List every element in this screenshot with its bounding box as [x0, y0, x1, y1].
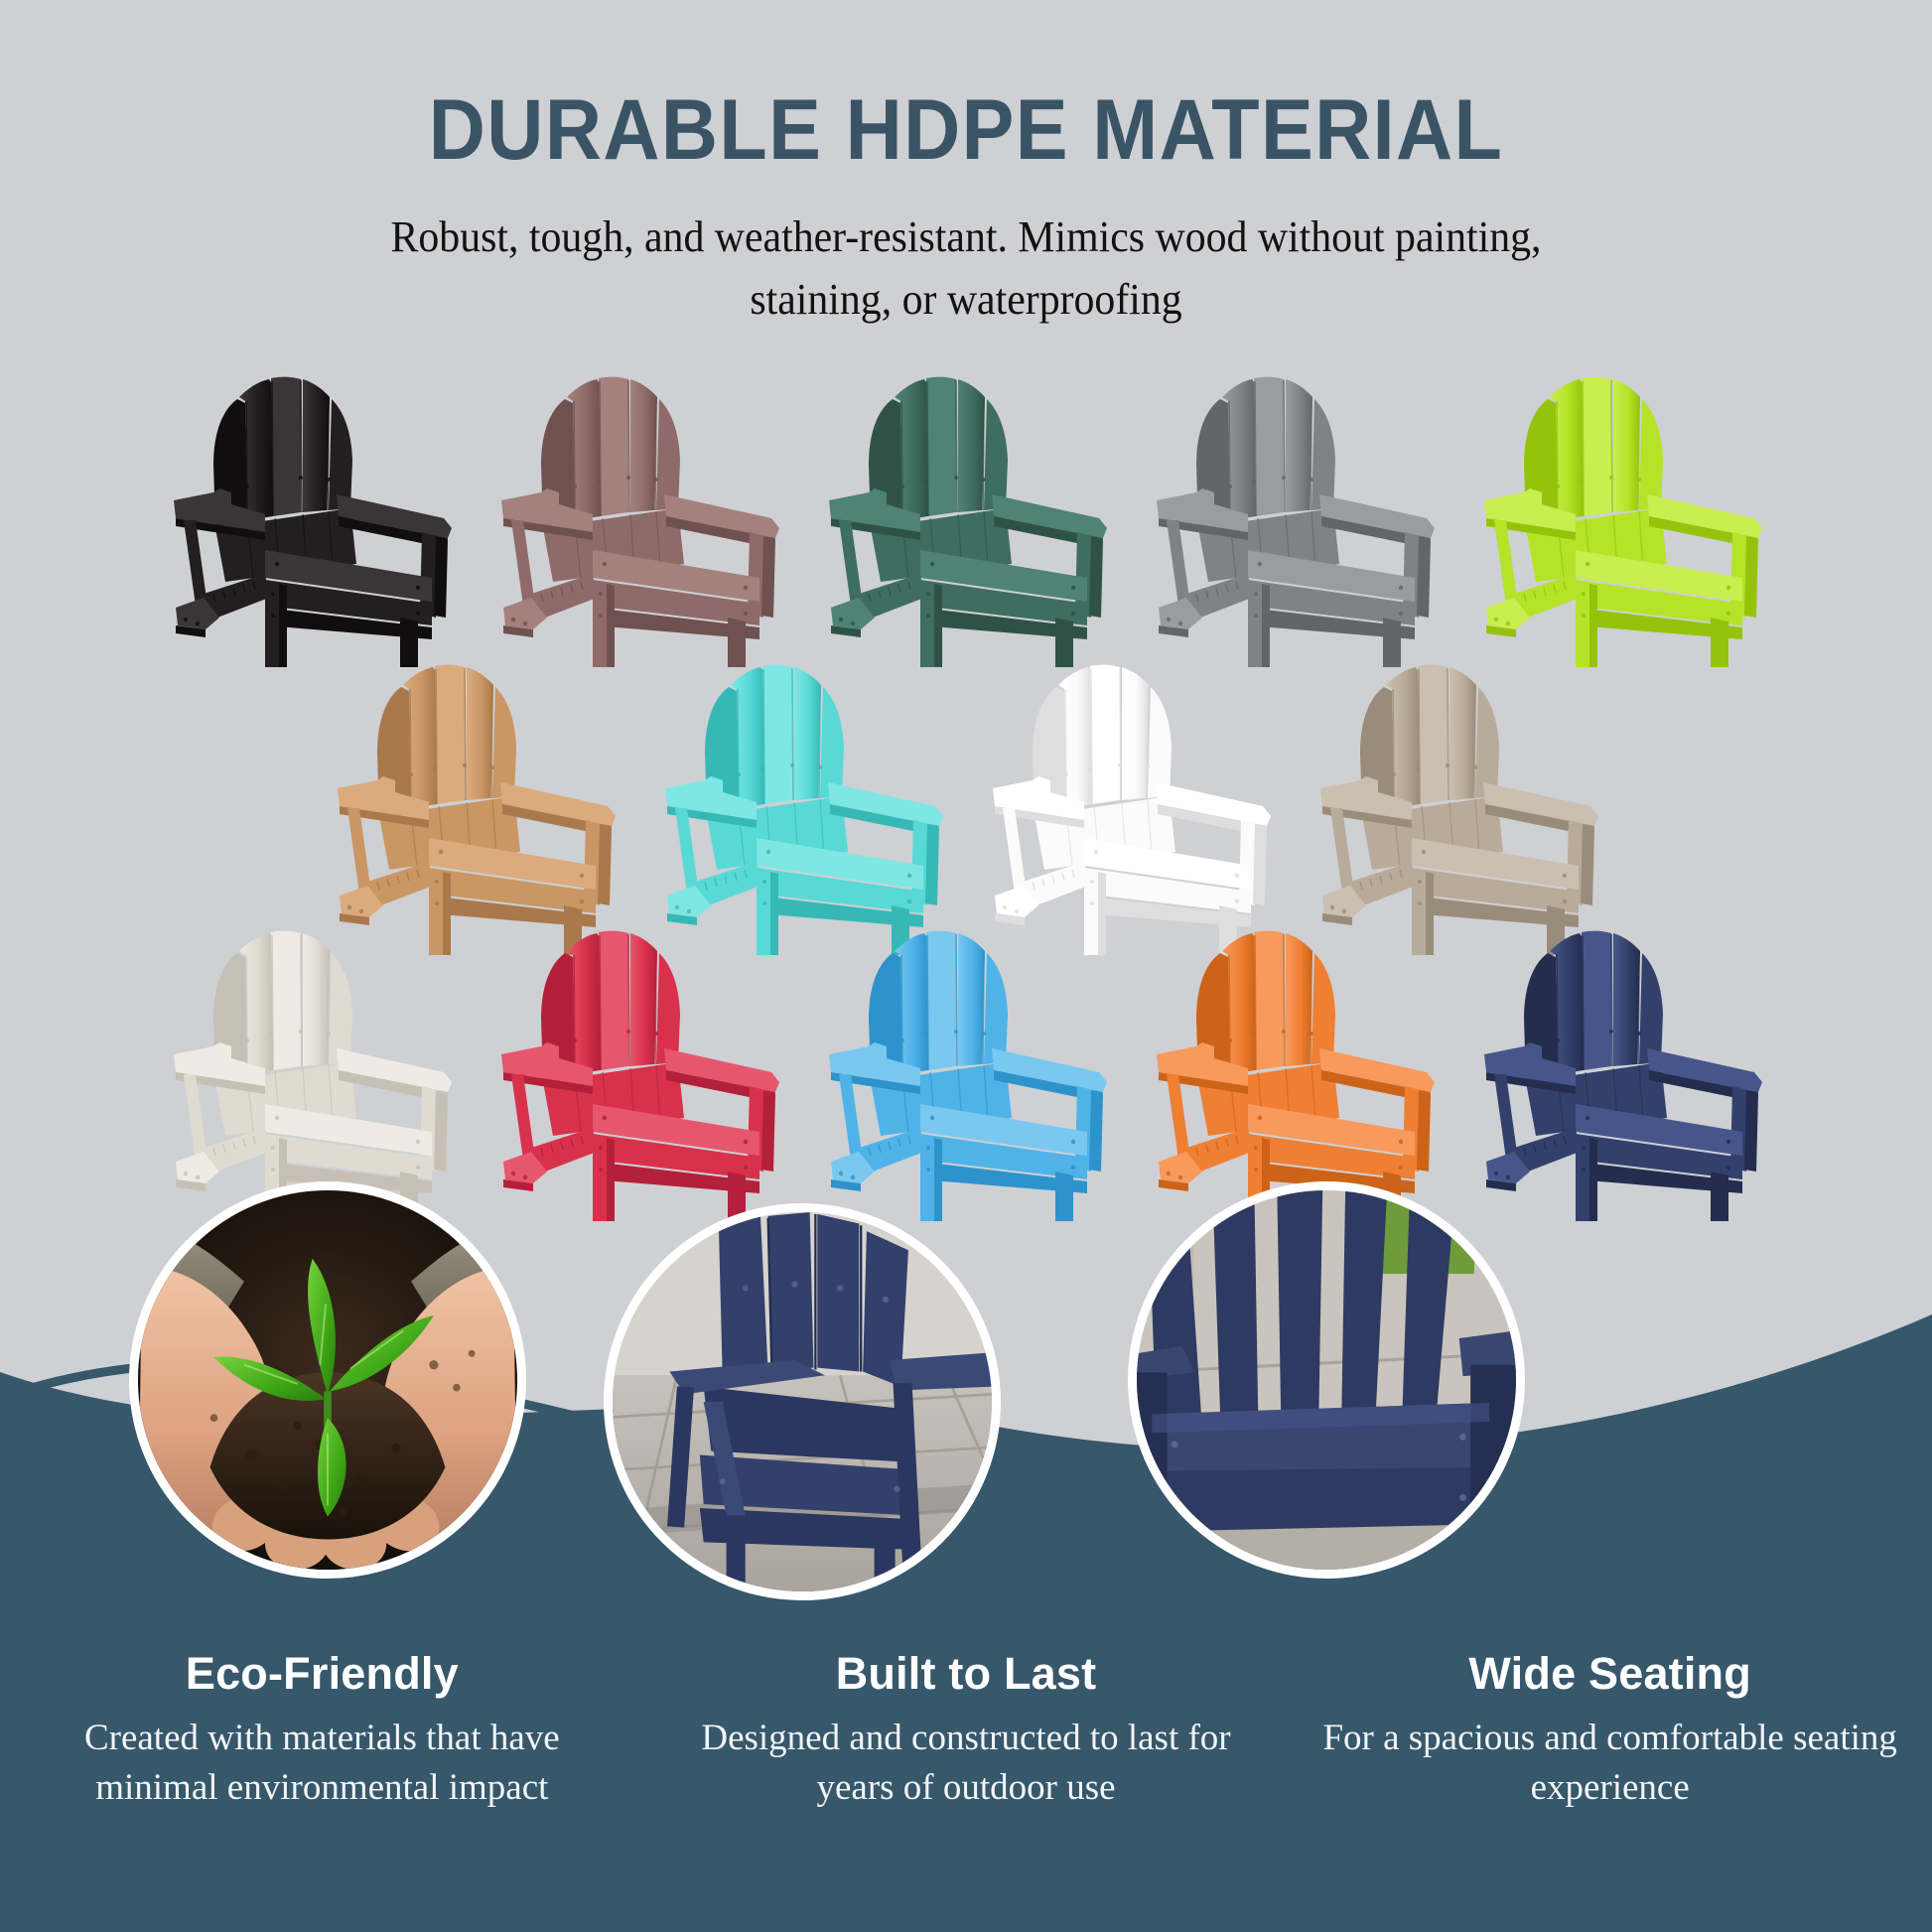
eco-friendly-photo — [129, 1181, 526, 1579]
chair-swatch-black[interactable] — [147, 369, 475, 667]
page-title: DURABLE HDPE MATERIAL — [77, 85, 1855, 175]
chair-left-arm-support — [1330, 808, 1354, 894]
adirondack-chair-svg — [162, 923, 460, 1221]
chair-side-rail — [340, 862, 433, 925]
chair-left-arm-support — [675, 808, 699, 894]
chair-left-arm-support — [184, 520, 207, 606]
navy-adirondack-chair-patio-photo — [613, 1212, 992, 1591]
chair-side-rail — [176, 1128, 269, 1191]
wide-seating-photo — [1128, 1181, 1525, 1579]
chair-side-rail — [1322, 862, 1416, 925]
chair-side-rail — [995, 862, 1088, 925]
chair-side-rail — [503, 574, 597, 637]
chair-swatch-light-blue[interactable] — [802, 923, 1130, 1221]
chair-side-rail — [831, 1128, 924, 1191]
chair-left-arm-support — [839, 520, 863, 606]
adirondack-chair-svg — [326, 657, 623, 955]
chair-side-rail — [1486, 574, 1580, 637]
page-subtitle: Robust, tough, and weather-resistant. Mi… — [339, 207, 1593, 331]
chair-side-rail — [176, 574, 269, 637]
adirondack-chair-svg — [817, 923, 1115, 1221]
chair-row-1 — [147, 369, 1785, 667]
chair-swatch-taupe[interactable] — [1294, 657, 1621, 955]
navy-chair-wide-seat-closeup-photo — [1137, 1190, 1516, 1570]
feature-list: Eco-Friendly Created with materials that… — [0, 1648, 1932, 1813]
chair-side-rail — [503, 1128, 597, 1191]
chair-side-rail — [1159, 1128, 1252, 1191]
feature-wide-seating: Wide Seating For a spacious and comforta… — [1288, 1648, 1932, 1813]
feature-description: Created with materials that have minimal… — [28, 1714, 617, 1813]
hands-holding-seedling-photo — [138, 1190, 517, 1570]
adirondack-chair-svg — [653, 657, 951, 955]
chair-left-arm-support — [1494, 1074, 1518, 1160]
feature-title: Eco-Friendly — [28, 1648, 617, 1700]
feature-title: Built to Last — [672, 1648, 1261, 1700]
chair-left-arm-support — [184, 1074, 207, 1160]
adirondack-chair-svg — [162, 369, 460, 667]
chair-left-arm-support — [347, 808, 371, 894]
chair-left-arm-support — [1494, 520, 1518, 606]
chair-left-arm-support — [839, 1074, 863, 1160]
infographic-canvas: DURABLE HDPE MATERIAL Robust, tough, and… — [0, 0, 1932, 1932]
chair-swatch-navy-blue[interactable] — [1457, 923, 1785, 1221]
adirondack-chair-svg — [1145, 923, 1443, 1221]
chair-left-arm-support — [1167, 520, 1190, 606]
feature-description: For a spacious and comfortable seating e… — [1315, 1714, 1904, 1813]
chair-side-rail — [667, 862, 760, 925]
feature-eco-friendly: Eco-Friendly Created with materials that… — [0, 1648, 644, 1813]
chair-swatch-teak[interactable] — [311, 657, 638, 955]
chair-swatch-dark-green[interactable] — [802, 369, 1130, 667]
chair-swatch-lime-green[interactable] — [1457, 369, 1785, 667]
chair-row-2 — [274, 657, 1658, 955]
header: DURABLE HDPE MATERIAL Robust, tough, and… — [0, 85, 1932, 331]
adirondack-chair-svg — [489, 923, 787, 1221]
chair-rear-leg — [1055, 1172, 1073, 1221]
adirondack-chair-svg — [981, 657, 1279, 955]
chair-side-rail — [831, 574, 924, 637]
chair-left-arm-support — [511, 1074, 535, 1160]
adirondack-chair-svg — [1309, 657, 1606, 955]
adirondack-chair-svg — [817, 369, 1115, 667]
feature-title: Wide Seating — [1315, 1648, 1904, 1700]
chair-swatch-orange[interactable] — [1130, 923, 1457, 1221]
chair-swatch-ivory[interactable] — [147, 923, 475, 1221]
chair-row-3 — [147, 923, 1785, 1221]
chair-swatch-brown[interactable] — [475, 369, 802, 667]
chair-left-arm-support — [511, 520, 535, 606]
chair-side-rail — [1159, 574, 1252, 637]
chair-left-arm-support — [1003, 808, 1027, 894]
feature-description: Designed and constructed to last for yea… — [672, 1714, 1261, 1813]
adirondack-chair-svg — [1472, 923, 1770, 1221]
chair-swatch-gray[interactable] — [1130, 369, 1457, 667]
chair-swatch-turquoise[interactable] — [638, 657, 966, 955]
chair-swatch-red[interactable] — [475, 923, 802, 1221]
chair-side-rail — [1486, 1128, 1580, 1191]
chair-left-arm-support — [1167, 1074, 1190, 1160]
chair-rear-leg — [1711, 618, 1728, 667]
feature-built-to-last: Built to Last Designed and constructed t… — [644, 1648, 1289, 1813]
adirondack-chair-svg — [1145, 369, 1443, 667]
chair-swatch-white[interactable] — [966, 657, 1294, 955]
chair-rear-leg — [1711, 1172, 1728, 1221]
adirondack-chair-svg — [1472, 369, 1770, 667]
built-to-last-photo — [604, 1203, 1001, 1600]
adirondack-chair-svg — [489, 369, 787, 667]
